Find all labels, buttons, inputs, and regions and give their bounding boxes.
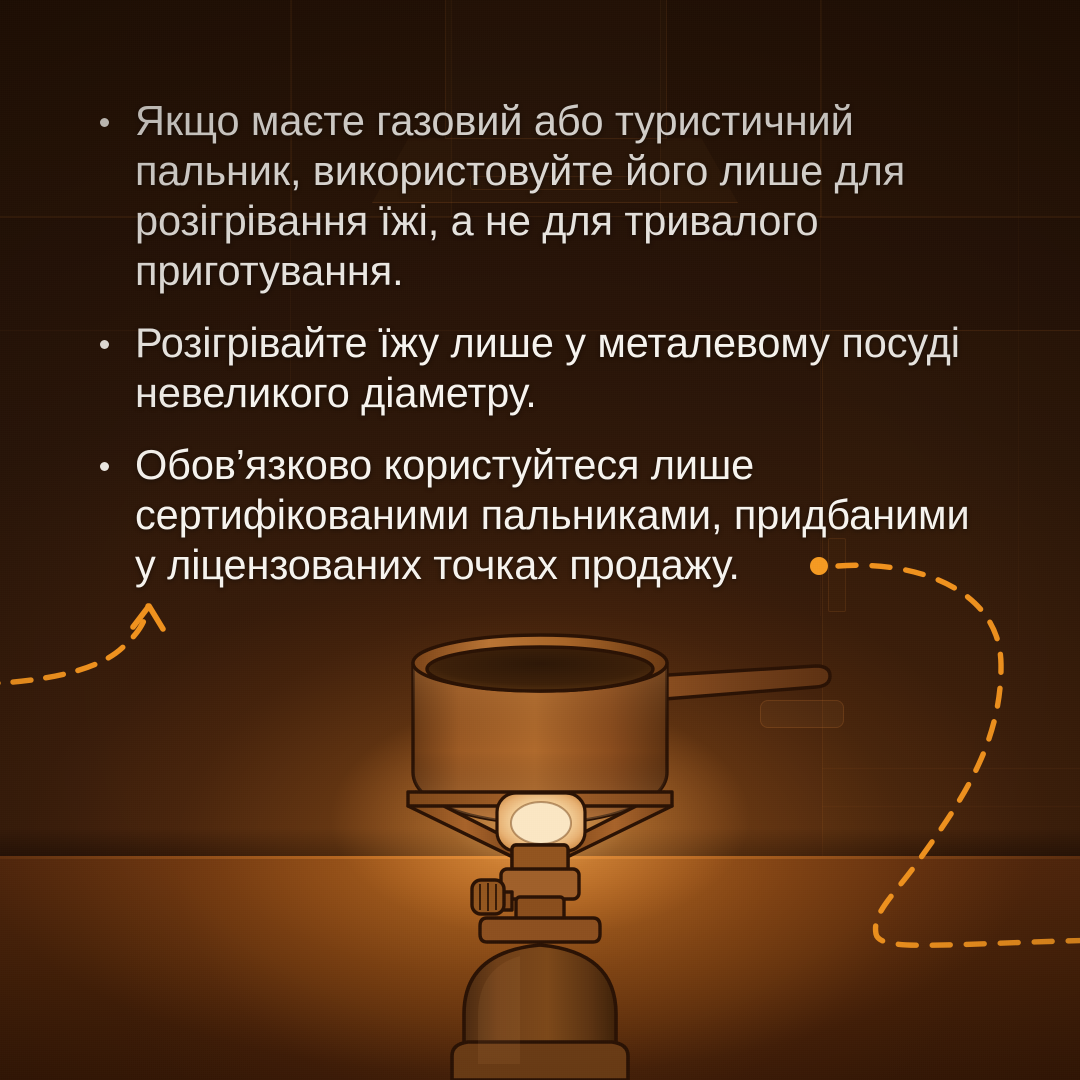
list-item: Обов’язково користуйтеся лише сертифіков… — [96, 440, 996, 590]
appliance-seam-1 — [822, 768, 1080, 769]
counter-shadow — [0, 828, 1080, 858]
dot-bullet-icon — [100, 462, 109, 471]
countertop-edge — [0, 856, 1080, 859]
bullet-text: Якщо маєте газовий або туристичний пальн… — [135, 96, 975, 296]
appliance-handle-upper — [760, 700, 844, 728]
appliance-seam-2 — [822, 806, 1080, 807]
bullet-text: Обов’язково користуйтеся лише сертифіков… — [135, 440, 975, 590]
safety-tips-card: Якщо маєте газовий або туристичний пальн… — [0, 0, 1080, 1080]
dot-bullet-icon — [100, 118, 109, 127]
dot-bullet-icon — [100, 340, 109, 349]
list-item: Якщо маєте газовий або туристичний пальн… — [96, 96, 996, 296]
countertop — [0, 856, 1080, 1080]
list-item: Розігрівайте їжу лише у металевому посуд… — [96, 318, 996, 418]
bullet-text: Розігрівайте їжу лише у металевому посуд… — [135, 318, 975, 418]
bullet-list: Якщо маєте газовий або туристичний пальн… — [96, 96, 996, 590]
